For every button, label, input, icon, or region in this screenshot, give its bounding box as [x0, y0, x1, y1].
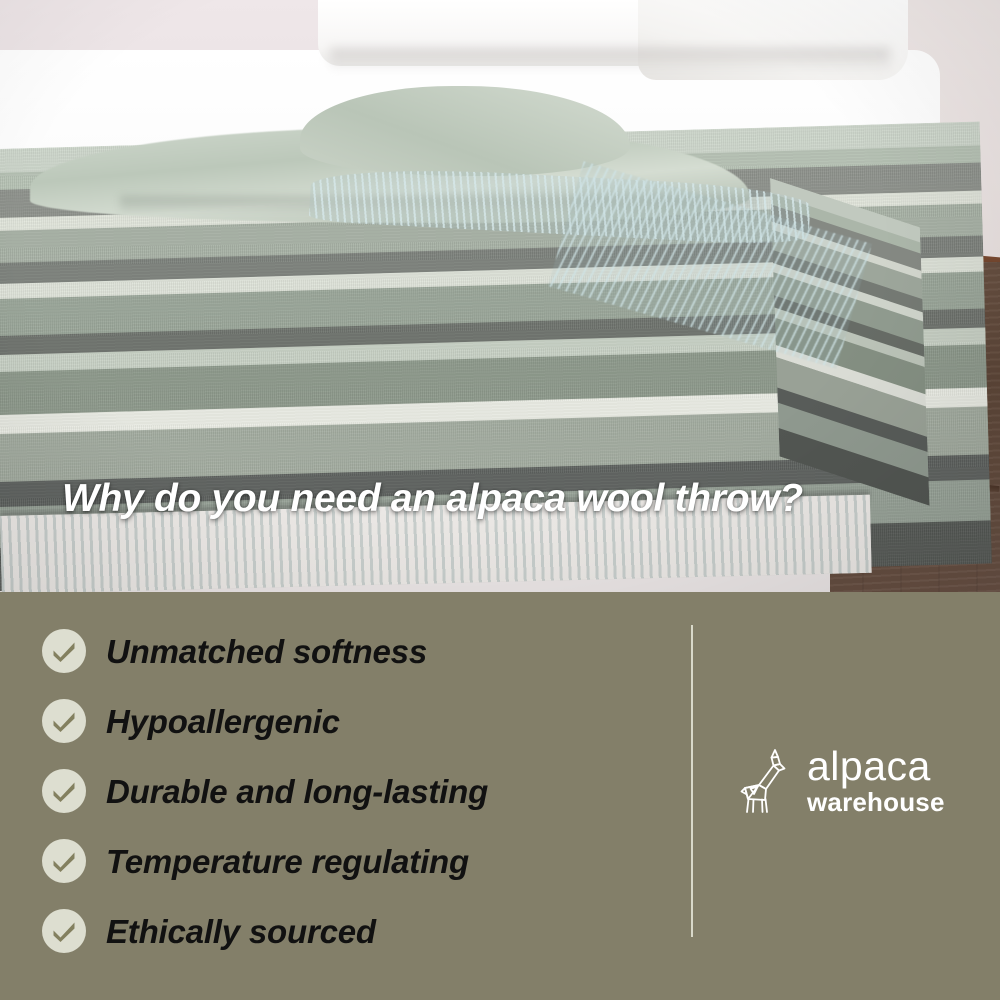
vertical-divider	[691, 625, 693, 937]
benefit-item: Unmatched softness	[42, 616, 662, 686]
brand-logo-text: alpaca warehouse	[807, 746, 945, 815]
benefits-list: Unmatched softnessHypoallergenicDurable …	[42, 616, 662, 966]
benefit-item: Temperature regulating	[42, 826, 662, 896]
benefit-label: Temperature regulating	[106, 845, 469, 878]
brand-logo: alpaca warehouse	[737, 744, 945, 816]
pillow-shadow	[330, 48, 890, 72]
benefit-item: Ethically sourced	[42, 896, 662, 966]
check-circle-icon	[42, 699, 86, 743]
benefit-label: Hypoallergenic	[106, 705, 340, 738]
check-circle-icon	[42, 909, 86, 953]
benefit-label: Unmatched softness	[106, 635, 427, 668]
alpaca-icon	[737, 744, 793, 816]
benefit-label: Ethically sourced	[106, 915, 376, 948]
check-circle-icon	[42, 629, 86, 673]
benefit-item: Durable and long-lasting	[42, 756, 662, 826]
brand-name-secondary: warehouse	[807, 789, 945, 815]
benefits-panel: Unmatched softnessHypoallergenicDurable …	[0, 592, 1000, 1000]
benefit-label: Durable and long-lasting	[106, 775, 488, 808]
benefit-item: Hypoallergenic	[42, 686, 662, 756]
infographic-canvas: Why do you need an alpaca wool throw? Un…	[0, 0, 1000, 1000]
check-circle-icon	[42, 769, 86, 813]
brand-name-primary: alpaca	[807, 746, 945, 787]
check-circle-icon	[42, 839, 86, 883]
page-title: Why do you need an alpaca wool throw?	[62, 477, 962, 521]
